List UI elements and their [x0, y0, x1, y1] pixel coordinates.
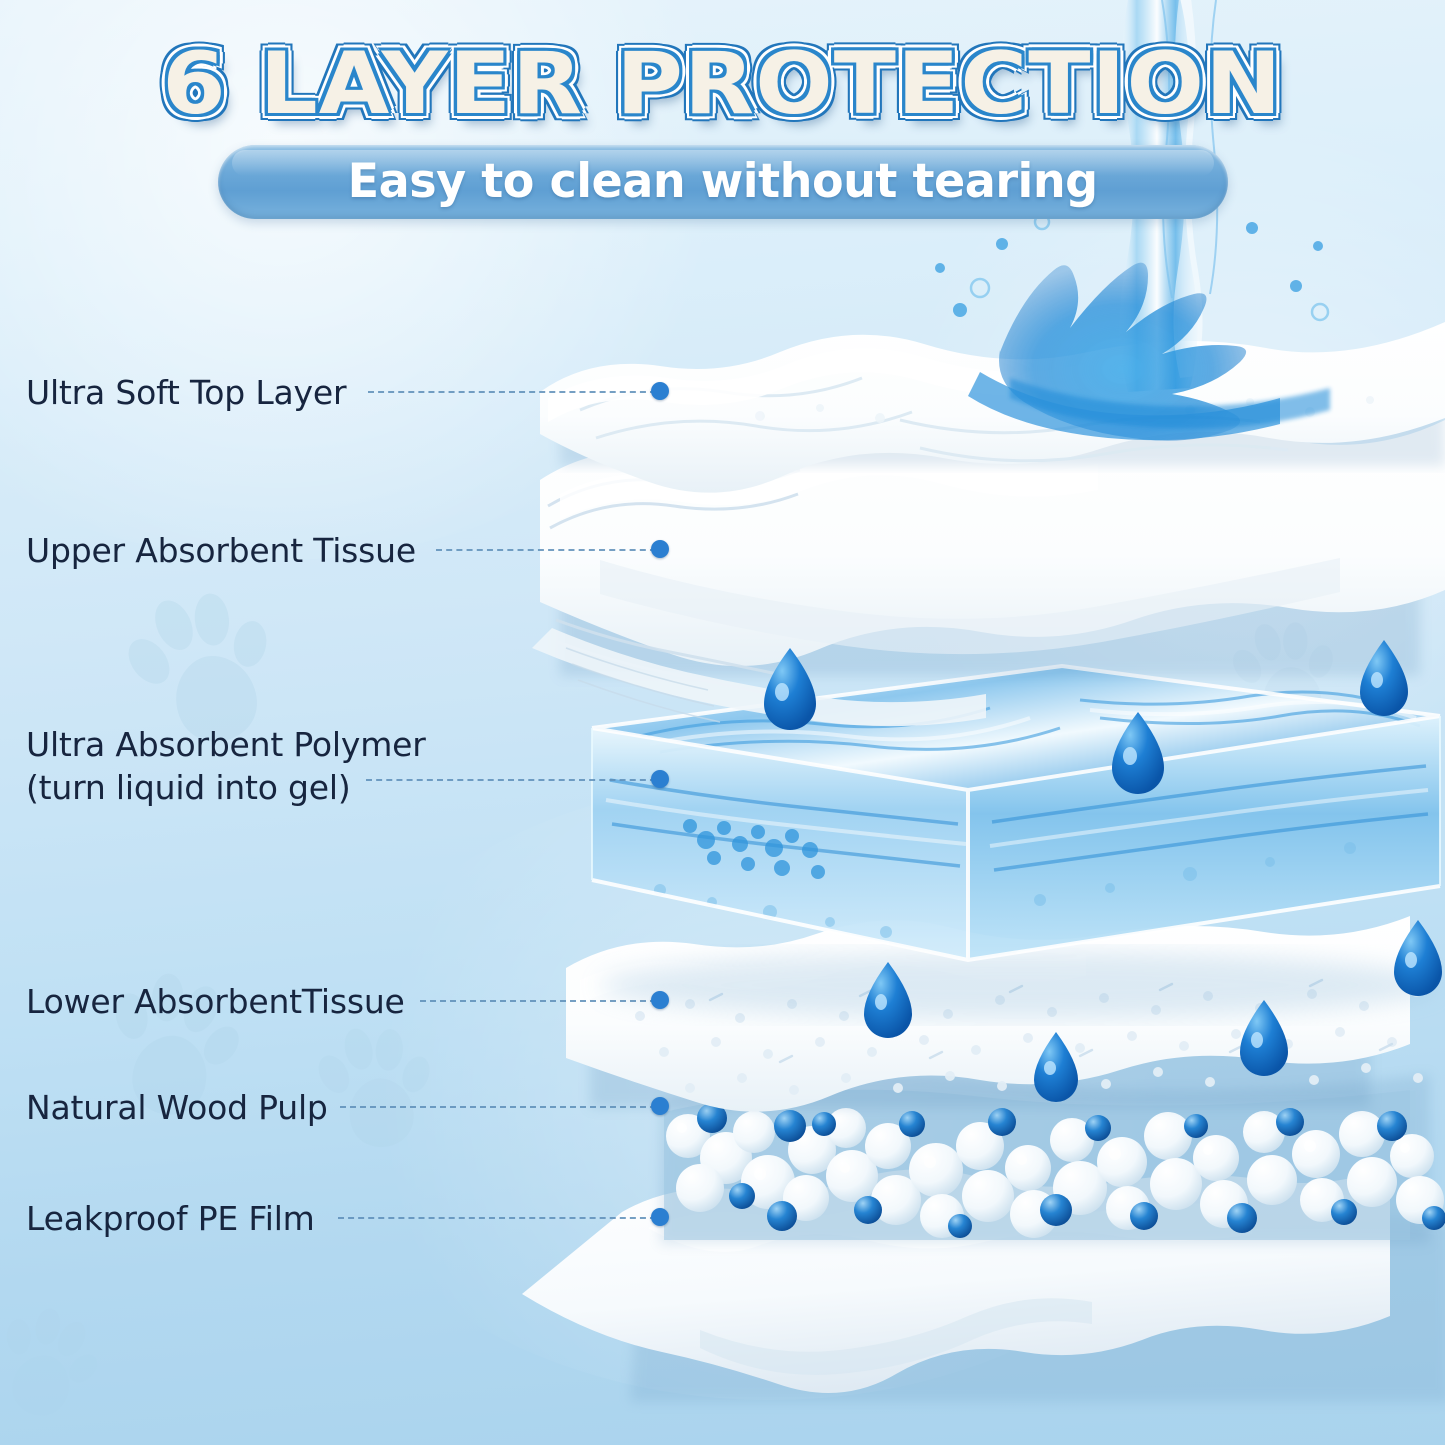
subtitle-banner: Easy to clean without tearing: [0, 145, 1445, 219]
callout-label-line1: Ultra Absorbent Polymer: [26, 724, 426, 767]
leader-dot-icon: [651, 1097, 669, 1115]
leader-dot-icon: [651, 382, 669, 400]
callout-label: Leakproof PE Film: [26, 1198, 315, 1240]
leader-line: [420, 1000, 656, 1002]
leader-dot-icon: [651, 1208, 669, 1226]
pulp-beads: [664, 1090, 1445, 1240]
leader-line: [340, 1106, 656, 1108]
title-block: 6 LAYER PROTECTION: [0, 34, 1445, 134]
layer-ultra-absorbent-polymer-gel: [592, 666, 1440, 1019]
leader-line: [366, 779, 656, 781]
infographic-canvas: 6 LAYER PROTECTION Easy to clean without…: [0, 0, 1445, 1445]
leader-line: [436, 549, 656, 551]
leader-dot-icon: [651, 770, 669, 788]
callout-label: Natural Wood Pulp: [26, 1087, 328, 1129]
page-title: 6 LAYER PROTECTION: [162, 34, 1282, 134]
callout-label: Upper Absorbent Tissue: [26, 530, 416, 572]
leader-line: [368, 391, 656, 393]
subtitle-text: Easy to clean without tearing: [347, 145, 1097, 219]
leader-dot-icon: [651, 540, 669, 558]
leader-dot-icon: [651, 991, 669, 1009]
subtitle-pill: Easy to clean without tearing: [218, 145, 1228, 219]
callout-label: Ultra Absorbent Polymer (turn liquid int…: [26, 724, 426, 810]
leader-line: [338, 1217, 656, 1219]
callout-label: Ultra Soft Top Layer: [26, 372, 346, 414]
callout-label: Lower AbsorbentTissue: [26, 981, 405, 1023]
callout-label-line2: (turn liquid into gel): [26, 767, 426, 810]
